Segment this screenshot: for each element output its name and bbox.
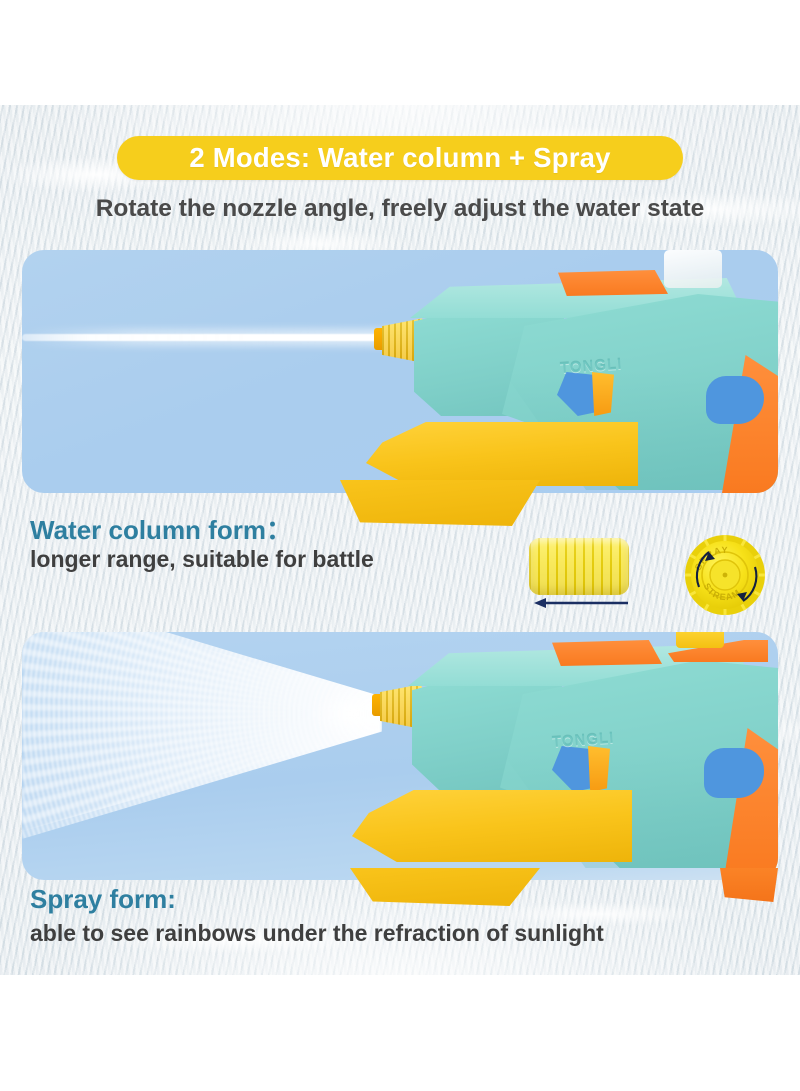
- caption-title-water-column: Water column form：: [30, 510, 292, 547]
- gun-trigger-spray: [588, 746, 610, 792]
- rotation-direction-arrow: [532, 596, 630, 610]
- gun-trigger: [592, 372, 614, 416]
- gun-rear-grip-overflow-spray: [720, 868, 778, 902]
- caption-subtitle-spray: able to see rainbows under the refractio…: [30, 920, 604, 947]
- gun-orange-stripe: [558, 270, 668, 296]
- water-mist-spray: [22, 632, 382, 848]
- rotation-arrow-svg: [532, 596, 630, 610]
- water-gun-stream: TONGLI: [352, 250, 778, 493]
- nozzle-knob-side-view: [529, 538, 629, 595]
- photo-panel-spray: TONGLI: [22, 632, 778, 880]
- water-gun-spray: TONGLI: [352, 640, 778, 880]
- gun-pump-handle-spray: [352, 790, 632, 862]
- nozzle-knob-front-view: SPRAY STREAM: [683, 533, 767, 617]
- water-stream-jet: [22, 334, 394, 341]
- panel-clip-spray: TONGLI: [22, 632, 778, 880]
- gun-grip-hole: [706, 376, 764, 424]
- nozzle-knob-face-svg: SPRAY STREAM: [683, 533, 767, 617]
- caption-title-spray: Spray form:: [30, 884, 176, 915]
- gun-top-knob: [676, 632, 724, 648]
- mist-droplets: [22, 632, 382, 839]
- gun-pump-handle: [366, 422, 638, 486]
- mode-headline-badge: 2 Modes: Water column + Spray: [117, 136, 683, 180]
- gun-pump-handle-overflow-spray: [350, 868, 540, 906]
- panel-clip-water-column: TONGLI: [22, 250, 778, 493]
- gun-grip-hole-spray: [704, 748, 764, 798]
- gun-fill-cap: [664, 250, 722, 288]
- photo-panel-water-column: TONGLI: [22, 250, 778, 493]
- subtitle-text: Rotate the nozzle angle, freely adjust t…: [0, 195, 800, 223]
- caption-subtitle-water-column: longer range, suitable for battle: [30, 546, 374, 573]
- mode-headline-text: 2 Modes: Water column + Spray: [189, 142, 610, 174]
- gun-orange-stripe-spray: [552, 640, 662, 666]
- gun-pump-handle-overflow: [340, 480, 540, 526]
